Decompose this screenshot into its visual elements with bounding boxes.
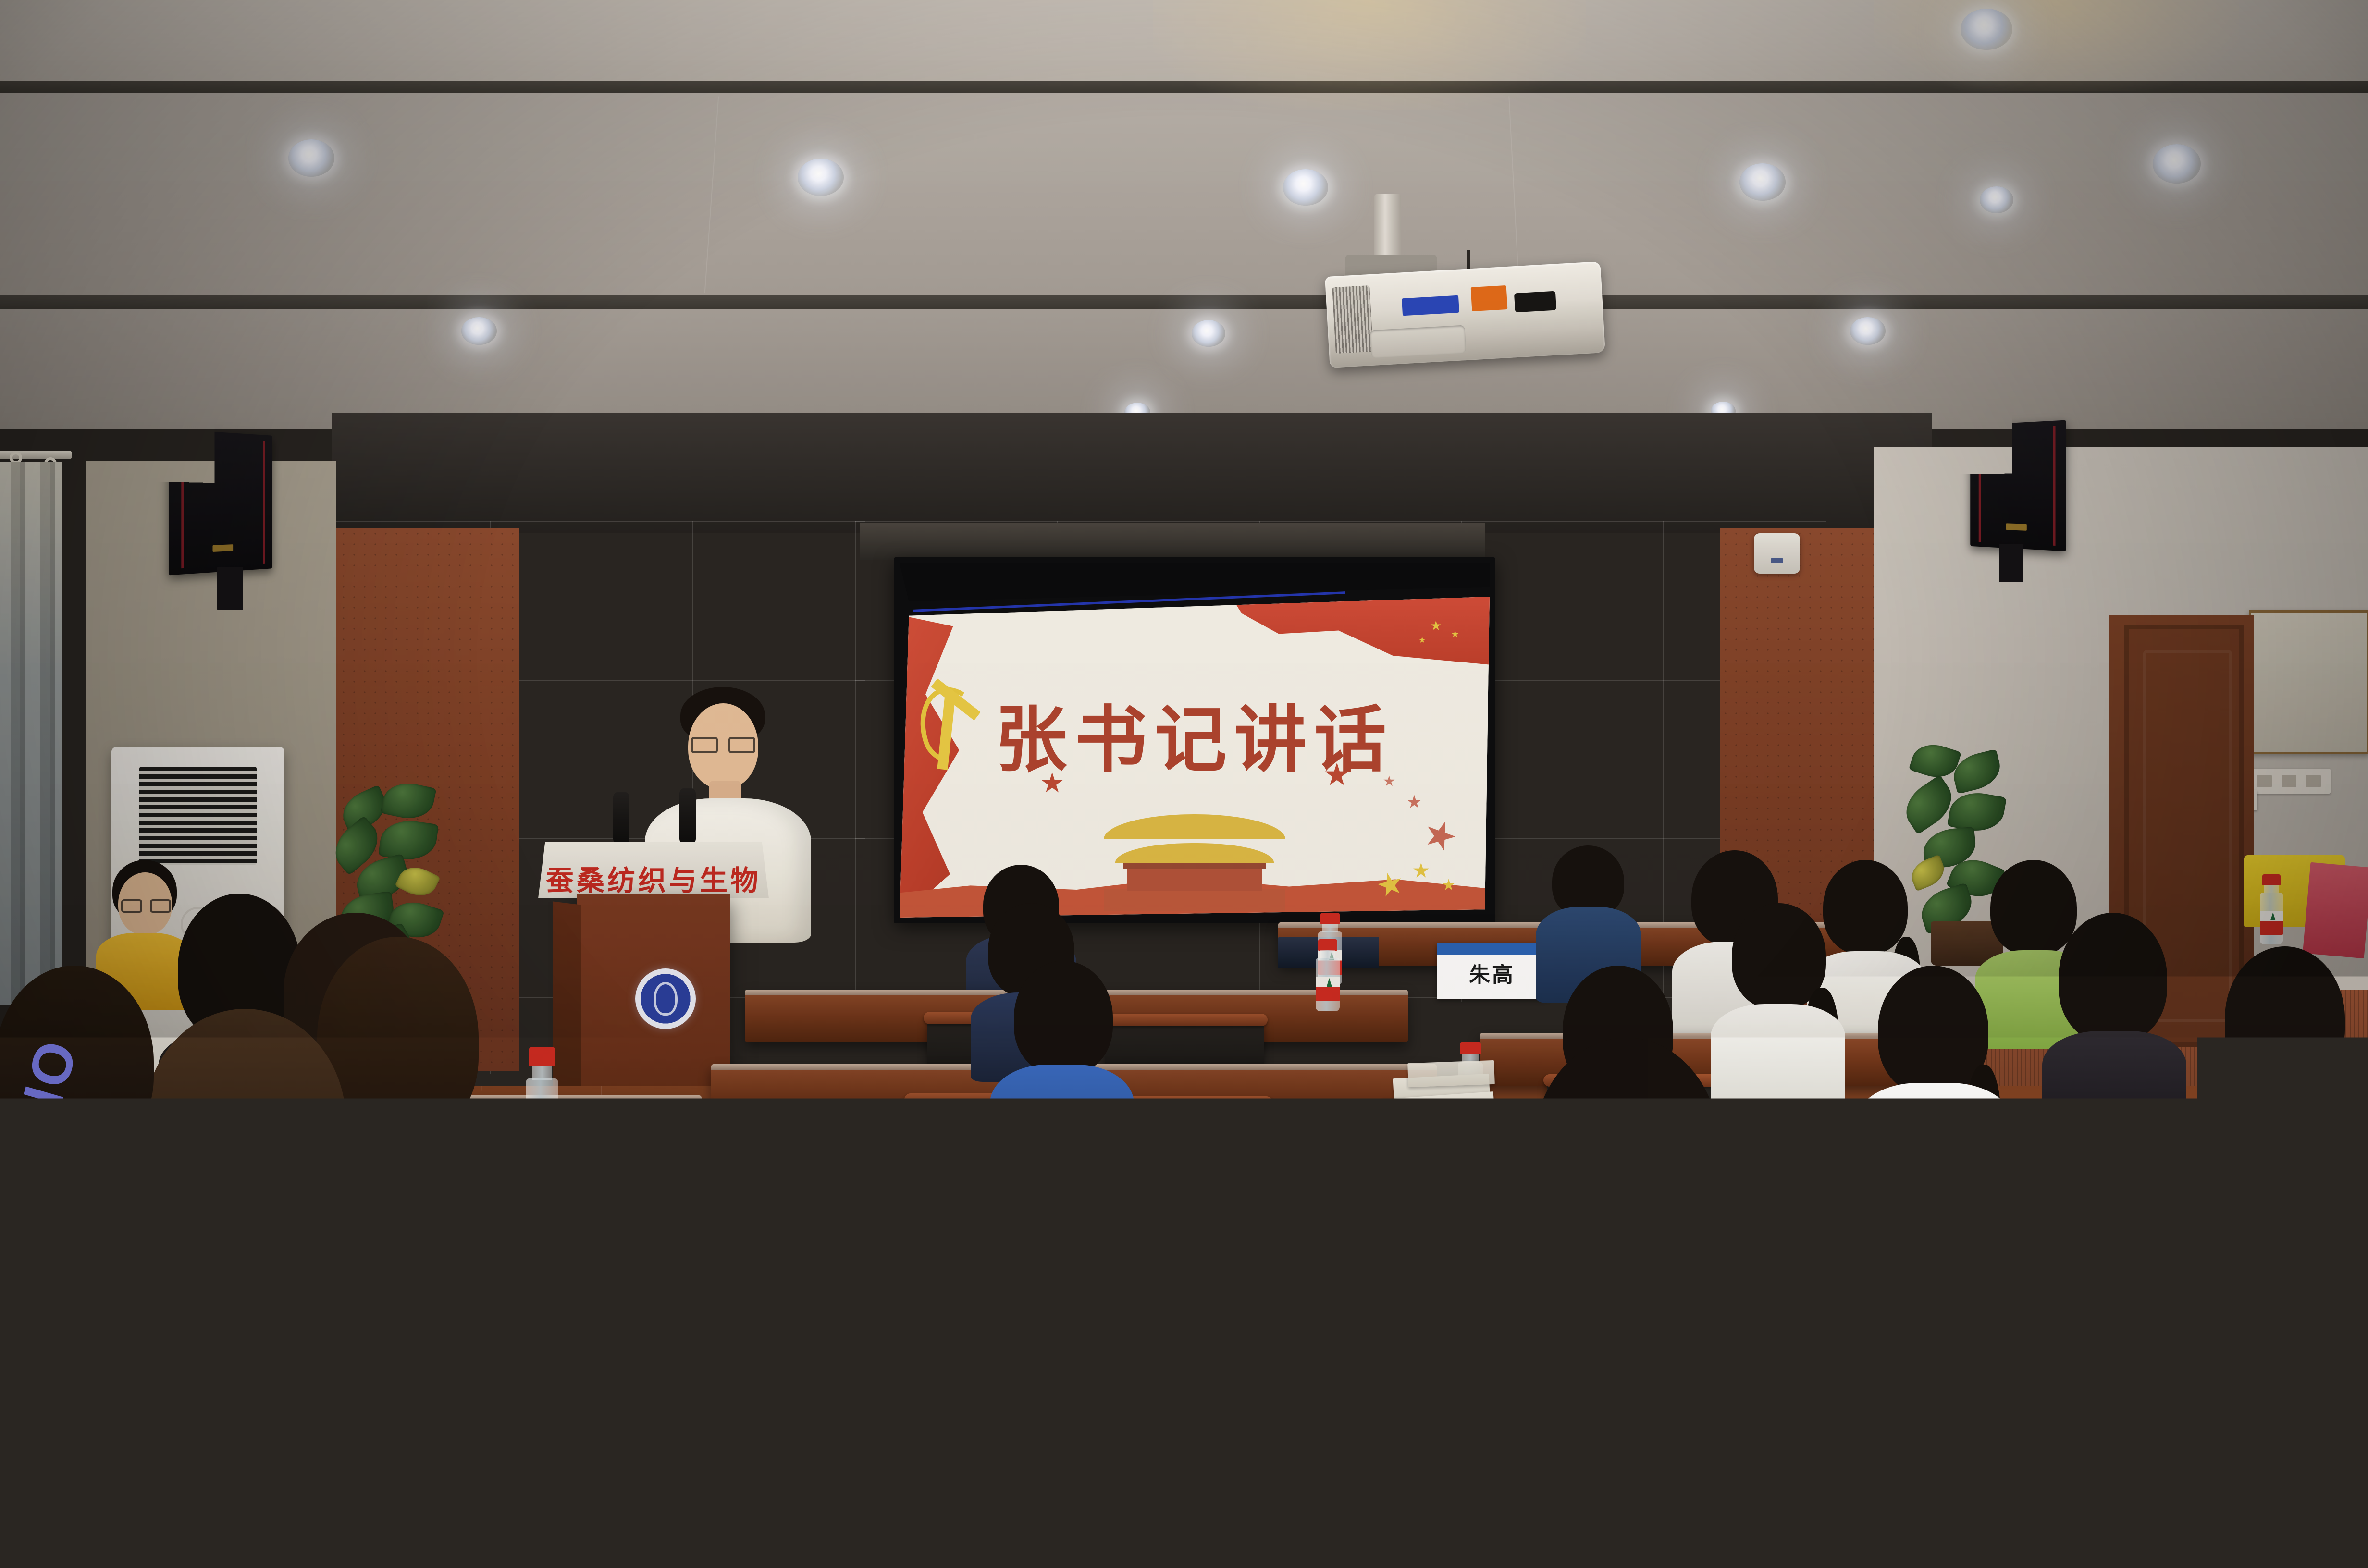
water-bottle[interactable] bbox=[356, 1100, 400, 1244]
projector-port-vga bbox=[1402, 295, 1459, 316]
ceiling-downlight bbox=[1739, 163, 1786, 201]
projector-lens-housing bbox=[1370, 325, 1467, 358]
projector-power-plug bbox=[1514, 291, 1556, 313]
drinking-straw bbox=[1446, 1345, 1463, 1427]
paper-handout[interactable] bbox=[230, 1323, 390, 1367]
slide-title: 张书记讲话 bbox=[900, 682, 1490, 786]
wall-speaker-right bbox=[1970, 420, 2066, 551]
red-folder[interactable] bbox=[2303, 862, 2368, 958]
audience-member bbox=[1855, 966, 2013, 1215]
ceiling-soffit-2 bbox=[0, 309, 2368, 429]
ceiling-downlight bbox=[1980, 186, 2013, 213]
wall-sensor-device bbox=[1754, 533, 1800, 574]
audience-member-foreground: STUDIO bbox=[0, 966, 259, 1568]
name-card-text: 朱高 bbox=[1437, 957, 1547, 988]
ceiling-downlight bbox=[2153, 144, 2201, 184]
desk-foreground-right bbox=[1605, 1384, 2368, 1470]
ceiling-downlight bbox=[798, 159, 844, 196]
water-bottle[interactable] bbox=[524, 1047, 560, 1167]
ceiling-cove-glow bbox=[1874, 0, 2239, 91]
ceiling-downlight bbox=[461, 317, 497, 345]
power-outlet[interactable] bbox=[2249, 769, 2331, 794]
water-bottle[interactable] bbox=[1888, 1316, 1946, 1508]
slide-star-icon bbox=[1407, 795, 1421, 809]
ceiling-downlight bbox=[1283, 169, 1328, 206]
wall-speaker-left bbox=[169, 429, 272, 576]
paper-handout[interactable] bbox=[1407, 1060, 1495, 1087]
slide-star-icon bbox=[1420, 816, 1460, 856]
lecture-hall-photo: 张书记讲话 bbox=[0, 0, 2368, 1568]
window-curtain bbox=[0, 462, 62, 1005]
projector-port-hdmi bbox=[1471, 285, 1508, 311]
water-bottle[interactable] bbox=[2258, 874, 2284, 944]
ceiling-recess-channel-2 bbox=[0, 295, 2368, 309]
slide-flag-topright bbox=[1230, 595, 1490, 666]
speaker-mount-left bbox=[217, 567, 243, 610]
name-card: 朱高 bbox=[1437, 943, 1547, 999]
screen-top-rail bbox=[860, 523, 1485, 560]
slide-star-icon bbox=[1413, 863, 1429, 879]
projector-vent-grill bbox=[1332, 285, 1373, 354]
ceiling-downlight bbox=[1192, 320, 1225, 347]
wall-notice-board bbox=[2249, 610, 2368, 754]
speaker-mount-right bbox=[1999, 544, 2023, 582]
glasses-icon bbox=[691, 737, 755, 753]
ceiling-downlight bbox=[1961, 9, 2012, 50]
audience-member bbox=[2042, 913, 2186, 1139]
ceiling-soffit-1 bbox=[0, 93, 2368, 295]
slide-tiananmen-icon bbox=[1100, 814, 1289, 911]
ceiling-downlight bbox=[288, 139, 334, 177]
ceiling-downlight bbox=[1850, 317, 1886, 345]
university-crest-icon bbox=[635, 968, 696, 1029]
audience-member bbox=[2210, 946, 2368, 1196]
water-bottle[interactable] bbox=[1314, 939, 1341, 1011]
water-bottle[interactable] bbox=[1480, 1364, 1533, 1568]
ceiling-cove-glow bbox=[1153, 0, 1586, 110]
wall-header-band bbox=[332, 413, 1932, 533]
